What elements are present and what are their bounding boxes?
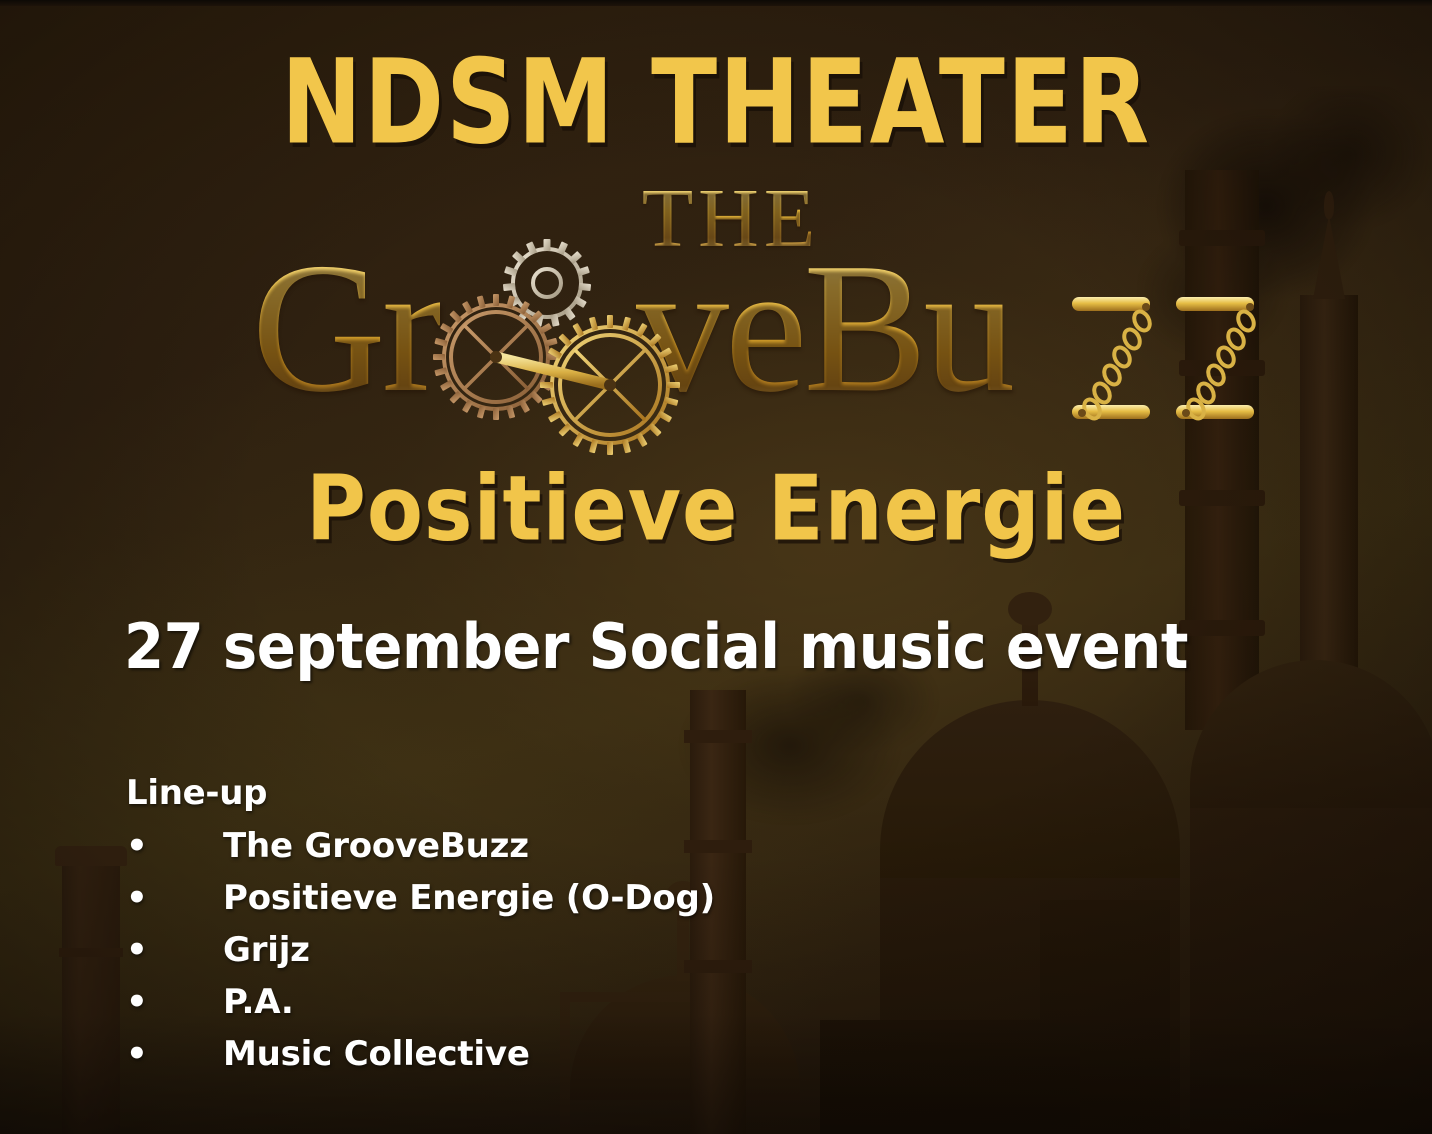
- lineup-section: Line-up • The GrooveBuzz • Positieve Ene…: [126, 776, 715, 1086]
- list-item: • P.A.: [126, 982, 715, 1034]
- bullet-icon: •: [126, 1037, 223, 1071]
- lineup-item-label: Positieve Energie (O-Dog): [223, 878, 715, 918]
- lineup-item-label: Music Collective: [223, 1034, 530, 1074]
- chain-icon: [1068, 285, 1268, 445]
- logo-gr: Gr: [252, 225, 440, 431]
- lineup-list: • The GrooveBuzz • Positieve Energie (O-…: [126, 826, 715, 1086]
- chain-z-first: [1072, 297, 1153, 421]
- venue-title: NDSM THEATER: [50, 44, 1382, 160]
- event-subtitle: Positieve Energie: [36, 464, 1396, 554]
- chain-z-second: [1176, 297, 1257, 421]
- bullet-icon: •: [126, 985, 223, 1019]
- bullet-icon: •: [126, 829, 223, 863]
- lineup-heading: Line-up: [126, 776, 715, 810]
- bullet-icon: •: [126, 933, 223, 967]
- list-item: • Positieve Energie (O-Dog): [126, 878, 715, 930]
- lineup-item-label: Grijz: [223, 930, 310, 970]
- gear-small-top: [503, 239, 591, 327]
- groovebuzz-logo: THE GrveBu: [0, 175, 1432, 460]
- list-item: • Grijz: [126, 930, 715, 982]
- event-date-line: 27 september Social music event: [124, 614, 1188, 679]
- list-item: • Music Collective: [126, 1034, 715, 1086]
- bullet-icon: •: [126, 881, 223, 915]
- gear-icon: [430, 235, 720, 460]
- logo-bu: Bu: [803, 225, 1012, 431]
- list-item: • The GrooveBuzz: [126, 826, 715, 878]
- lineup-item-label: P.A.: [223, 982, 294, 1022]
- lineup-item-label: The GrooveBuzz: [223, 826, 529, 866]
- event-poster: NDSM THEATER THE GrveBu: [0, 0, 1432, 1134]
